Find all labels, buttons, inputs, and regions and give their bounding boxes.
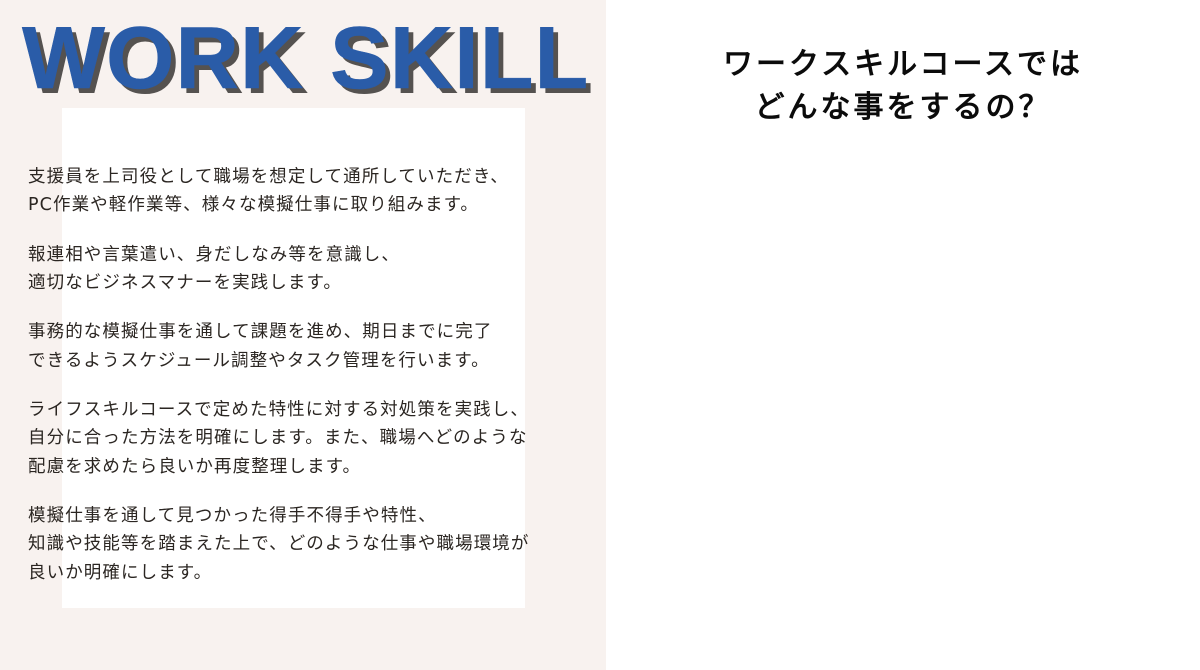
section-heading-line: どんな事をするの？ — [606, 87, 1200, 130]
body-paragraph: 報連相や言葉遣い、身だしなみ等を意識し、適切なビジネスマナーを実践します。 — [28, 241, 598, 298]
body-line: 模擬仕事を通して見つかった得手不得手や特性、 — [28, 502, 598, 530]
body-line: 事務的な模擬仕事を通して課題を進め、期日までに完了 — [28, 318, 598, 346]
body-paragraph: 事務的な模擬仕事を通して課題を進め、期日までに完了できるようスケジュール調整やタ… — [28, 318, 598, 375]
slide-root: WORK SKILL 支援員を上司役として職場を想定して通所していただき、PC作… — [0, 0, 1200, 670]
body-line: 知識や技能等を踏まえた上で、どのような仕事や職場環境が — [28, 530, 598, 558]
body-paragraph: 支援員を上司役として職場を想定して通所していただき、PC作業や軽作業等、様々な模… — [28, 163, 598, 220]
right-panel: ワークスキルコースではどんな事をするの？ — [606, 0, 1200, 670]
section-heading: ワークスキルコースではどんな事をするの？ — [606, 44, 1200, 129]
body-line: できるようスケジュール調整やタスク管理を行います。 — [28, 347, 598, 375]
body-line: PC作業や軽作業等、様々な模擬仕事に取り組みます。 — [28, 191, 598, 219]
section-heading-line: ワークスキルコースでは — [606, 44, 1200, 87]
body-paragraph: ライフスキルコースで定めた特性に対する対処策を実践し、自分に合った方法を明確にし… — [28, 396, 598, 481]
left-panel: WORK SKILL 支援員を上司役として職場を想定して通所していただき、PC作… — [0, 0, 606, 670]
body-line: ライフスキルコースで定めた特性に対する対処策を実践し、 — [28, 396, 598, 424]
body-line: 配慮を求めたら良いか再度整理します。 — [28, 453, 598, 481]
body-line: 報連相や言葉遣い、身だしなみ等を意識し、 — [28, 241, 598, 269]
body-paragraph: 模擬仕事を通して見つかった得手不得手や特性、知識や技能等を踏まえた上で、どのよう… — [28, 502, 598, 587]
body-text-block: 支援員を上司役として職場を想定して通所していただき、PC作業や軽作業等、様々な模… — [28, 163, 598, 587]
page-title: WORK SKILL — [22, 14, 589, 102]
body-line: 良いか明確にします。 — [28, 559, 598, 587]
body-line: 自分に合った方法を明確にします。また、職場へどのような — [28, 424, 598, 452]
body-line: 適切なビジネスマナーを実践します。 — [28, 269, 598, 297]
body-line: 支援員を上司役として職場を想定して通所していただき、 — [28, 163, 598, 191]
